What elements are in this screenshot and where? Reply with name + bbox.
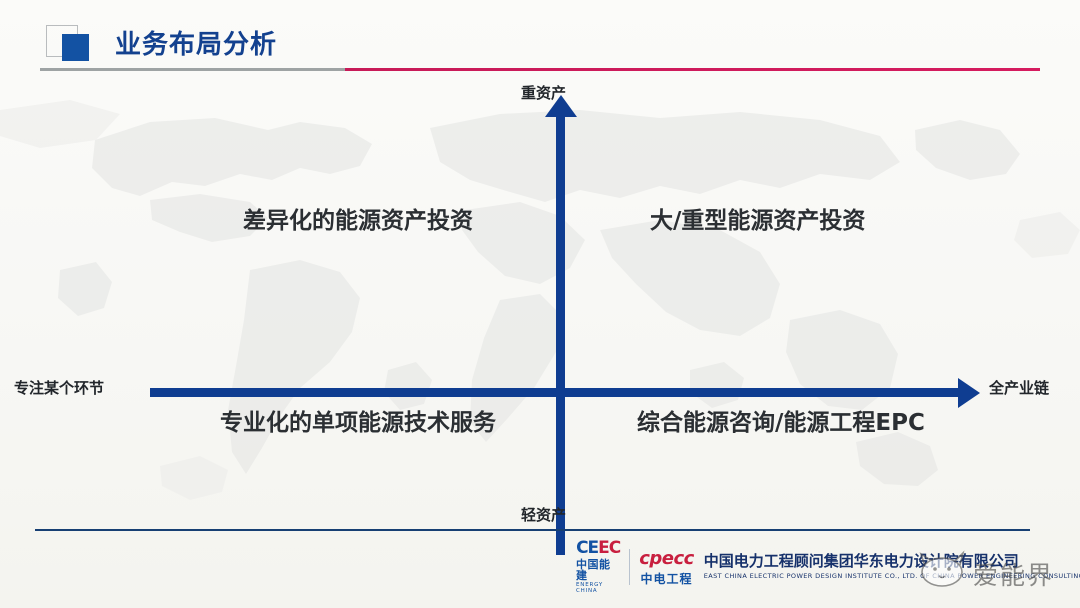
horizontal-axis xyxy=(150,388,968,397)
institute-name: 中国电力工程顾问集团华东电力设计院有限公司 EAST CHINA ELECTRI… xyxy=(704,554,1080,580)
institute-name-cn: 中国电力工程顾问集团华东电力设计院有限公司 xyxy=(704,554,1080,569)
axis-label-top: 重资产 xyxy=(521,82,566,103)
quadrant-label-top-right: 大/重型能源资产投资 xyxy=(650,201,865,235)
quadrant-label-top-left: 差异化的能源资产投资 xyxy=(243,201,473,235)
slide-footer: CEEC 中国能建 ENERGY CHINA cpecc 中电工程 中国电力工程… xyxy=(0,534,1080,608)
header-divider xyxy=(40,68,1040,71)
ceec-logo: CEEC 中国能建 ENERGY CHINA xyxy=(576,540,620,594)
axis-arrow-right-icon xyxy=(958,378,980,408)
decor-square-filled-icon xyxy=(62,34,89,61)
ceec-wordmark: CEEC xyxy=(576,540,620,557)
logo-separator xyxy=(629,549,630,585)
ceec-name-en: ENERGY CHINA xyxy=(576,583,620,594)
axis-label-right: 全产业链 xyxy=(989,377,1049,398)
quadrant-label-bottom-right: 综合能源咨询/能源工程EPC xyxy=(637,403,925,437)
institute-name-en: EAST CHINA ELECTRIC POWER DESIGN INSTITU… xyxy=(704,573,1080,580)
axis-label-left: 专注某个环节 xyxy=(14,377,104,398)
ceec-mark-right: EC xyxy=(598,538,620,558)
header-divider-gray xyxy=(40,68,345,71)
slide-header: 业务布局分析 xyxy=(0,0,1080,72)
cpecc-logo: cpecc 中电工程 xyxy=(639,550,694,585)
quadrant-label-bottom-left: 专业化的单项能源技术服务 xyxy=(220,403,496,437)
page-title: 业务布局分析 xyxy=(115,24,277,61)
ceec-name-cn: 中国能建 xyxy=(576,559,620,581)
ceec-mark-left: CE xyxy=(576,538,598,558)
footer-logo-group: CEEC 中国能建 ENERGY CHINA cpecc 中电工程 中国电力工程… xyxy=(576,540,1080,594)
quadrant-matrix-chart: 重资产 轻资产 专注某个环节 全产业链 差异化的能源资产投资 大/重型能源资产投… xyxy=(0,72,1080,512)
slide-canvas: 业务布局分析 重资产 轻资产 专注某个环节 全产业链 差异化的能源资产投资 大/… xyxy=(0,0,1080,608)
header-divider-crimson xyxy=(345,68,1040,71)
cpecc-wordmark: cpecc xyxy=(639,550,694,568)
cpecc-name-cn: 中电工程 xyxy=(640,573,692,585)
footer-divider xyxy=(35,529,1030,531)
vertical-axis xyxy=(556,112,565,555)
axis-label-bottom: 轻资产 xyxy=(521,504,566,525)
